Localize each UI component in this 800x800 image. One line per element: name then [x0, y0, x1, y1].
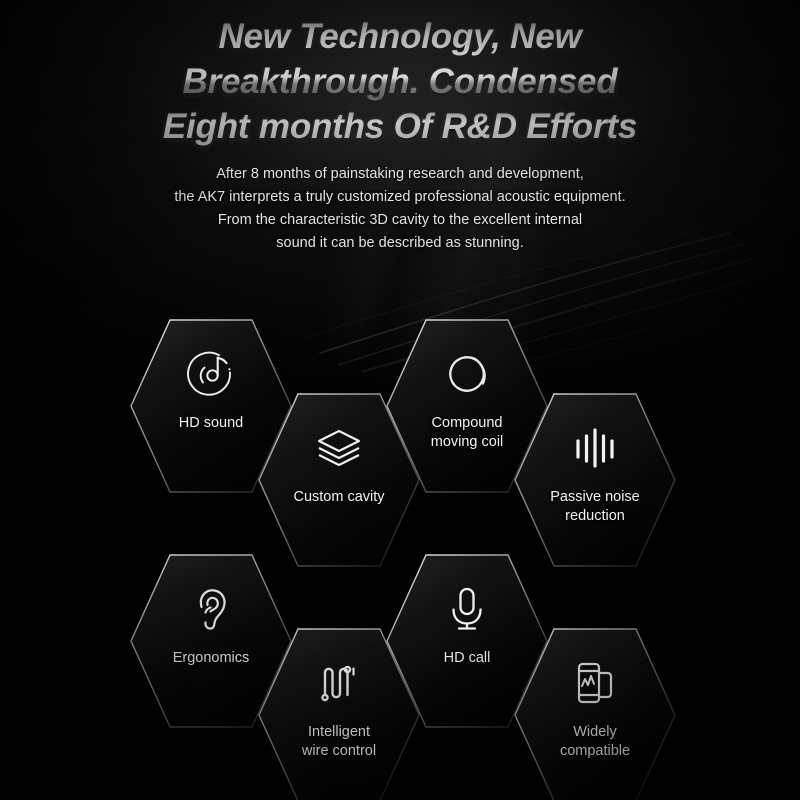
hexagon-outline [513, 392, 677, 568]
feature-hex-passive-noise-reduction[interactable]: Passive noise reduction [513, 392, 677, 568]
feature-hex-widely-compatible[interactable]: Widely compatible [513, 627, 677, 800]
phone-device-waveform-icon [569, 657, 621, 709]
aperture-iris-icon [441, 348, 493, 400]
sound-bars-icon [569, 422, 621, 474]
description-paragraph: After 8 months of painstaking research a… [0, 163, 800, 255]
page-title: New Technology, New Breakthrough. Conden… [0, 14, 800, 149]
ear-icon [185, 583, 237, 635]
winding-cable-icon [313, 657, 365, 709]
vinyl-music-note-icon [185, 348, 237, 400]
hexagon-outline [513, 627, 677, 800]
stacked-layers-icon [313, 422, 365, 474]
feature-label: Widely compatible [513, 723, 677, 761]
feature-label: Passive noise reduction [513, 488, 677, 526]
microphone-icon [441, 583, 493, 635]
product-feature-banner: New Technology, New Breakthrough. Conden… [0, 0, 800, 800]
